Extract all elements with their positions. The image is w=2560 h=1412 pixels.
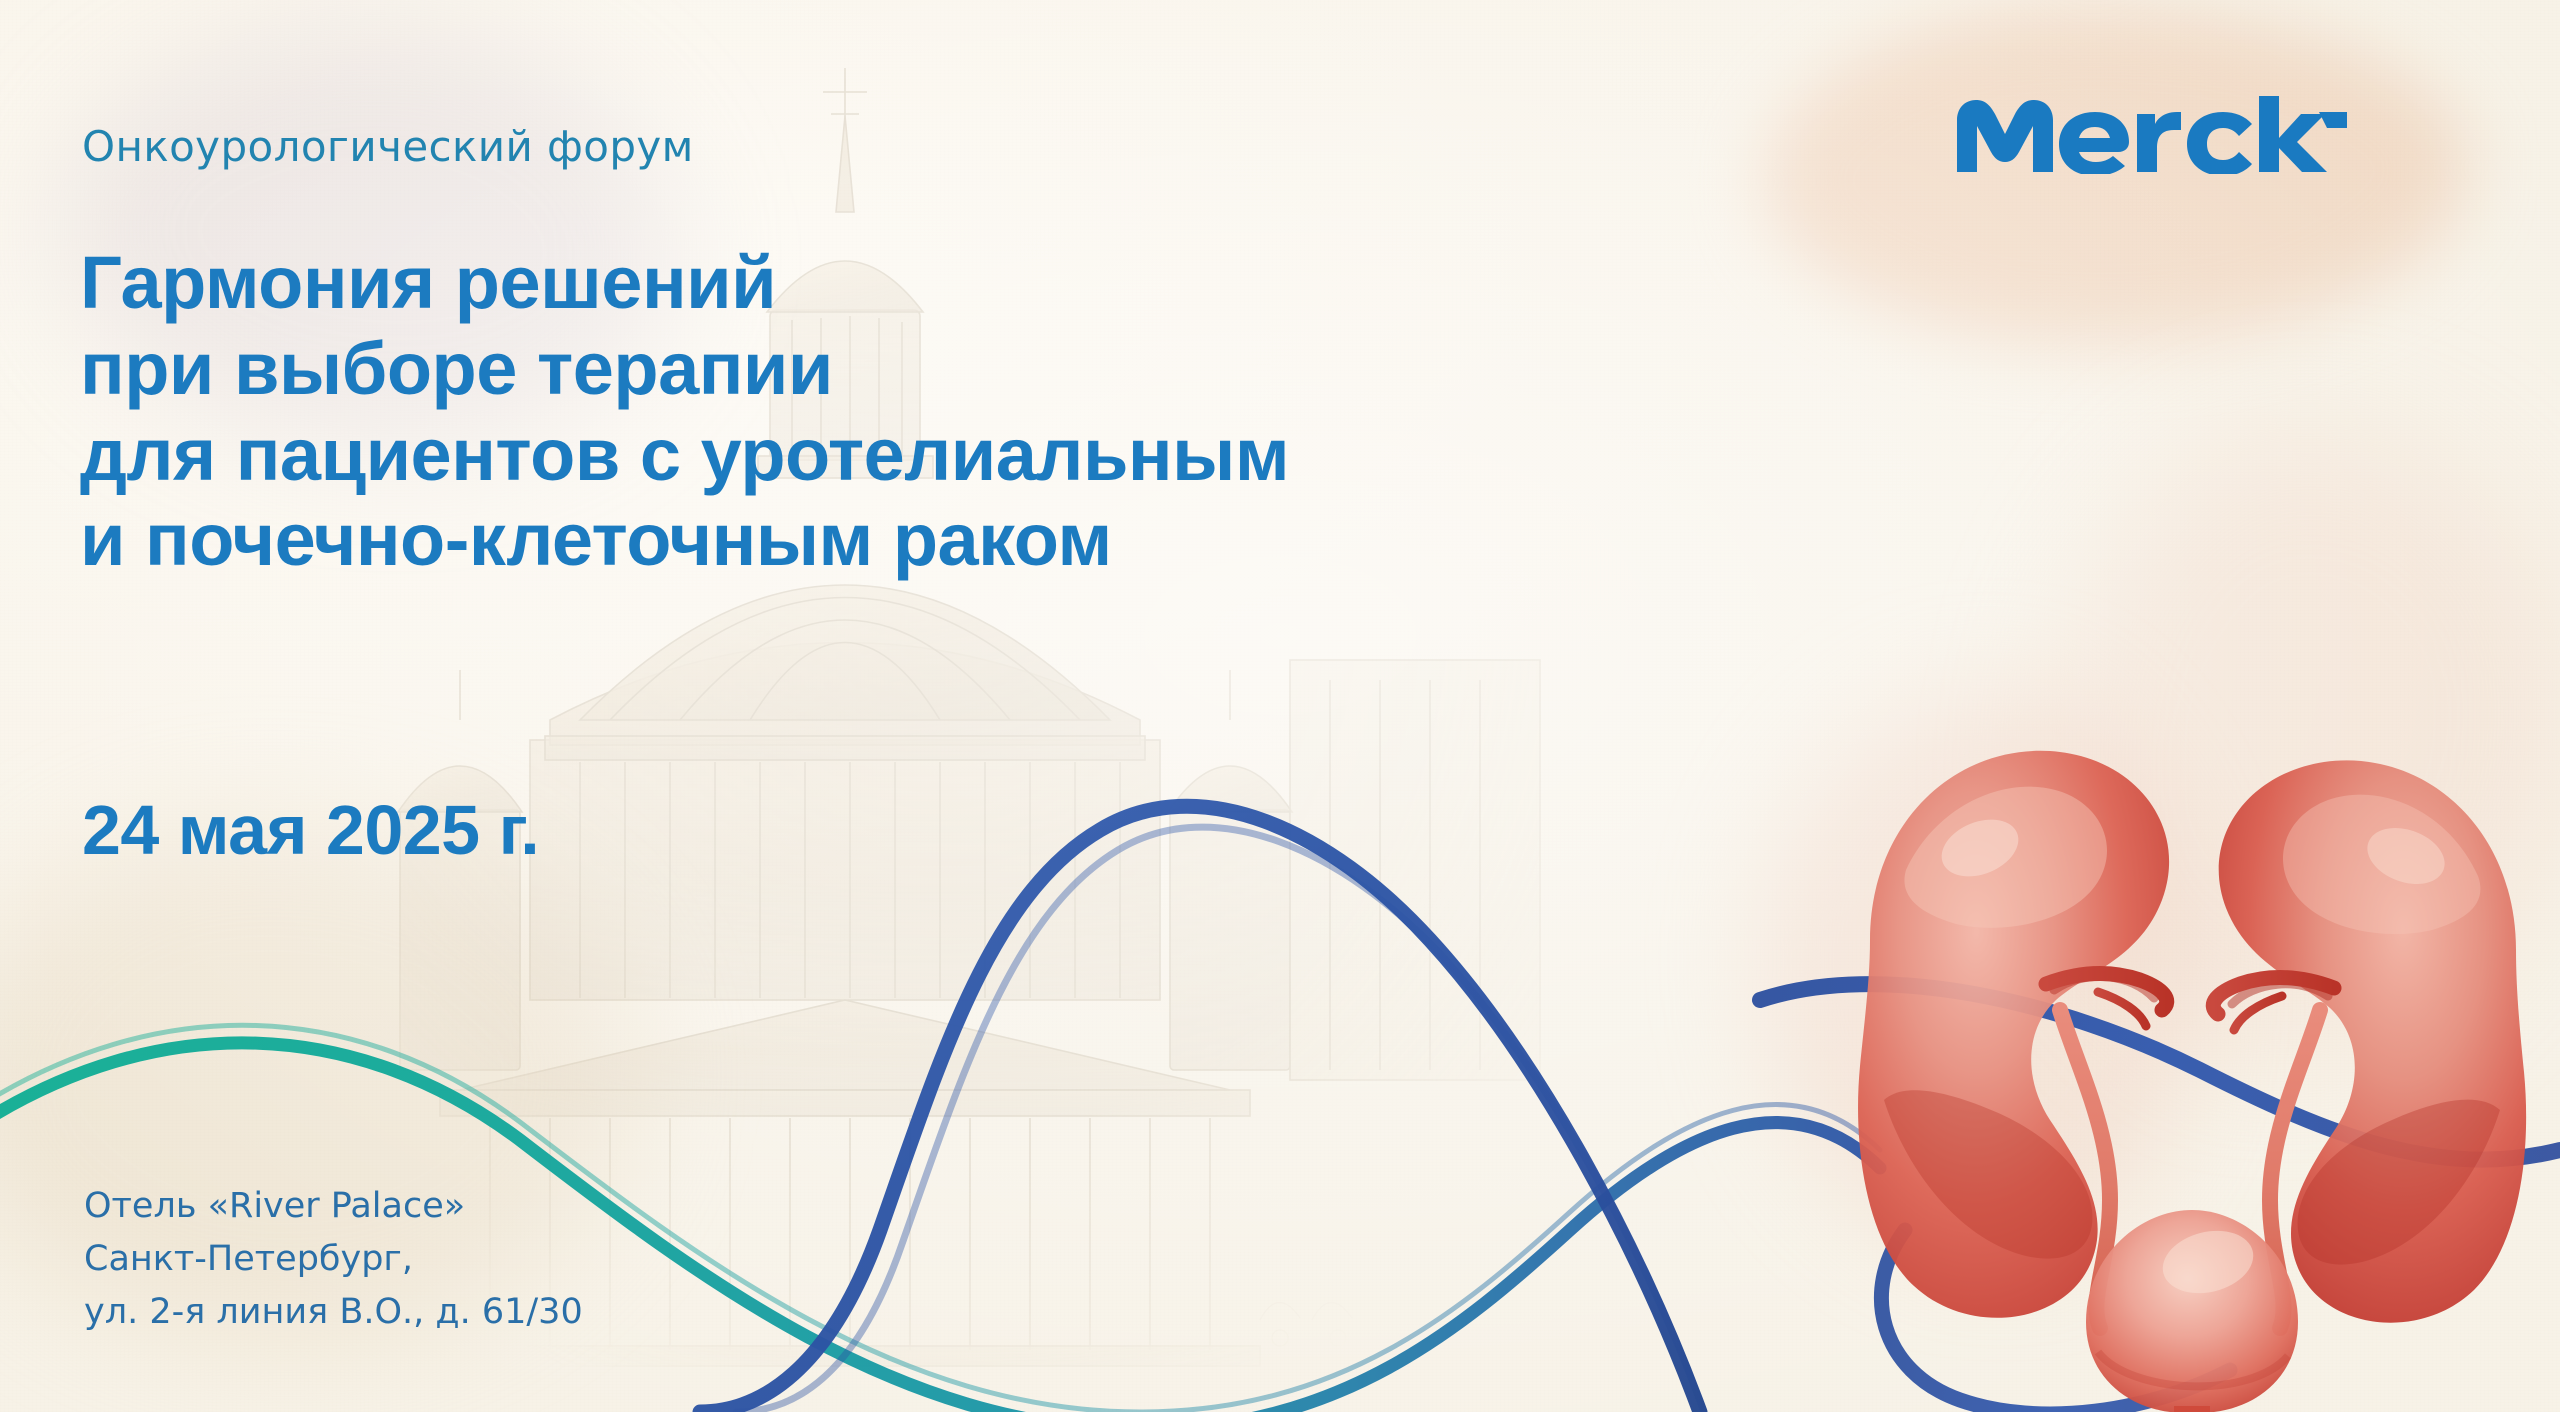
headline-line-2: при выборе терапии	[80, 326, 1730, 412]
headline-line-4: и почечно-клеточным раком	[80, 497, 1730, 583]
poster-eyebrow: Онкоурологический форум	[82, 122, 694, 171]
poster-headline: Гармония решений при выборе терапии для …	[80, 240, 1730, 583]
headline-line-3: для пациентов с уротелиальным	[80, 412, 1730, 498]
venue-line-3: ул. 2-я линия В.О., д. 61/30	[84, 1286, 583, 1339]
headline-line-1: Гармония решений	[80, 240, 1730, 326]
venue-block: Отель «River Palace» Санкт-Петербург, ул…	[84, 1180, 583, 1340]
merck-logo	[1955, 96, 2385, 174]
event-date: 24 мая 2025 г.	[82, 790, 539, 870]
venue-line-1: Отель «River Palace»	[84, 1180, 583, 1233]
merck-wordmark-glyphs	[1957, 96, 2347, 174]
event-poster: Онкоурологический форум Гармония решений…	[0, 0, 2560, 1412]
venue-line-2: Санкт-Петербург,	[84, 1233, 583, 1286]
